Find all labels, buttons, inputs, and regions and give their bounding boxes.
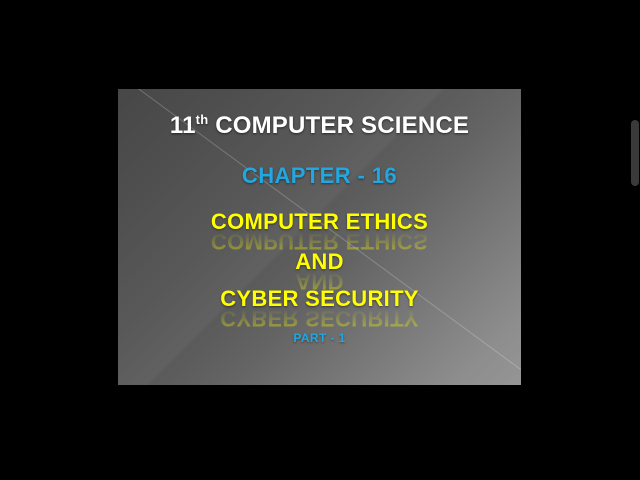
slide-part-label: PART - 1	[118, 332, 521, 344]
slide-content: 11th COMPUTER SCIENCE CHAPTER - 16 COMPU…	[118, 89, 521, 385]
title-subject: COMPUTER SCIENCE	[208, 112, 469, 139]
video-player-viewport: 11th COMPUTER SCIENCE CHAPTER - 16 COMPU…	[0, 0, 640, 480]
heading-text-and: AND	[118, 251, 521, 273]
heading-text-computer-ethics: COMPUTER ETHICS	[118, 211, 521, 233]
scrollbar-track[interactable]	[630, 0, 640, 480]
presentation-slide: 11th COMPUTER SCIENCE CHAPTER - 16 COMPU…	[118, 89, 521, 385]
title-grade-number: 11	[170, 112, 196, 139]
slide-title: 11th COMPUTER SCIENCE	[118, 113, 521, 138]
scrollbar-thumb[interactable]	[631, 120, 639, 186]
heading-text-cyber-security: CYBER SECURITY	[118, 288, 521, 310]
heading-line-cyber-security: CYBER SECURITY CYBER SECURITY	[118, 288, 521, 329]
heading-line-computer-ethics: COMPUTER ETHICS COMPUTER ETHICS	[118, 211, 521, 252]
title-ordinal-suffix: th	[196, 112, 209, 127]
slide-chapter-label: CHAPTER - 16	[118, 165, 521, 187]
